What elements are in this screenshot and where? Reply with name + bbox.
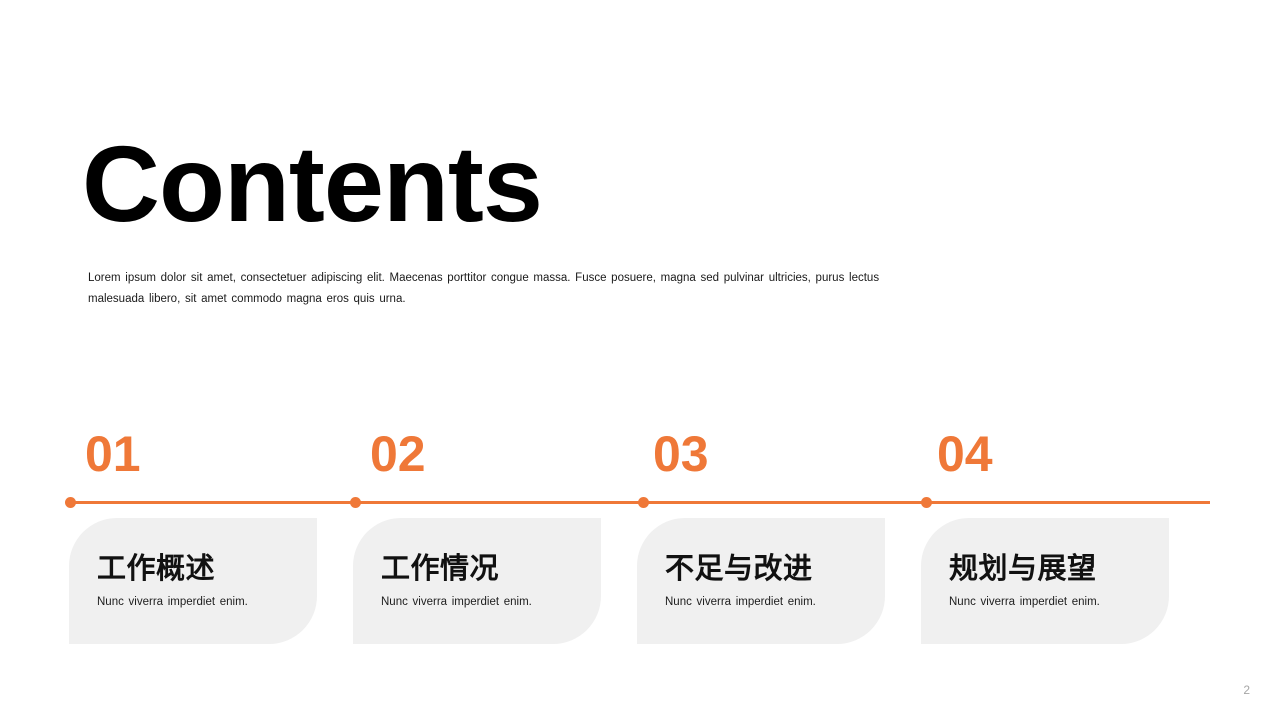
section-card-title: 工作情况 bbox=[381, 552, 601, 586]
timeline-dot-04 bbox=[921, 497, 932, 508]
section-card-title: 不足与改进 bbox=[665, 552, 885, 586]
section-card-04[interactable]: 规划与展望 Nunc viverra imperdiet enim. bbox=[921, 518, 1169, 644]
timeline-dot-02 bbox=[350, 497, 361, 508]
section-card-02[interactable]: 工作情况 Nunc viverra imperdiet enim. bbox=[353, 518, 601, 644]
page-number: 2 bbox=[1243, 683, 1250, 697]
section-card-subtitle: Nunc viverra imperdiet enim. bbox=[665, 595, 885, 610]
timeline-dot-03 bbox=[638, 497, 649, 508]
timeline-dot-01 bbox=[65, 497, 76, 508]
step-number-01: 01 bbox=[85, 427, 141, 481]
timeline-line bbox=[70, 501, 1210, 504]
section-card-title: 工作概述 bbox=[97, 552, 317, 586]
section-card-title: 规划与展望 bbox=[949, 552, 1169, 586]
section-card-subtitle: Nunc viverra imperdiet enim. bbox=[949, 595, 1169, 610]
intro-paragraph: Lorem ipsum dolor sit amet, consectetuer… bbox=[88, 268, 900, 310]
step-number-02: 02 bbox=[370, 427, 426, 481]
section-card-subtitle: Nunc viverra imperdiet enim. bbox=[381, 595, 601, 610]
section-card-03[interactable]: 不足与改进 Nunc viverra imperdiet enim. bbox=[637, 518, 885, 644]
slide-canvas: Contents Lorem ipsum dolor sit amet, con… bbox=[0, 0, 1280, 720]
page-title: Contents bbox=[82, 128, 542, 240]
step-number-03: 03 bbox=[653, 427, 709, 481]
section-card-subtitle: Nunc viverra imperdiet enim. bbox=[97, 595, 317, 610]
section-card-01[interactable]: 工作概述 Nunc viverra imperdiet enim. bbox=[69, 518, 317, 644]
step-number-04: 04 bbox=[937, 427, 993, 481]
